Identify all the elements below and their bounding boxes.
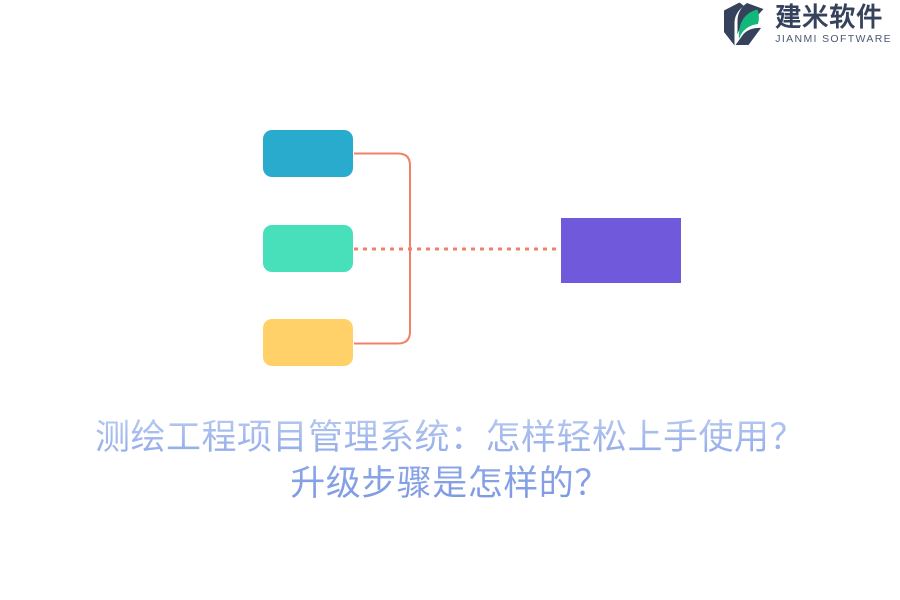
flow-diagram <box>0 0 900 390</box>
page-title: 测绘工程项目管理系统：怎样轻松上手使用？ 升级步骤是怎样的？ <box>0 415 900 507</box>
diagram-node-purple[interactable] <box>561 218 681 283</box>
bracket-connector <box>354 154 410 344</box>
diagram-node-mint[interactable] <box>263 225 353 272</box>
diagram-node-blue[interactable] <box>263 130 353 177</box>
diagram-connectors <box>0 0 900 390</box>
diagram-node-yellow[interactable] <box>263 319 353 366</box>
